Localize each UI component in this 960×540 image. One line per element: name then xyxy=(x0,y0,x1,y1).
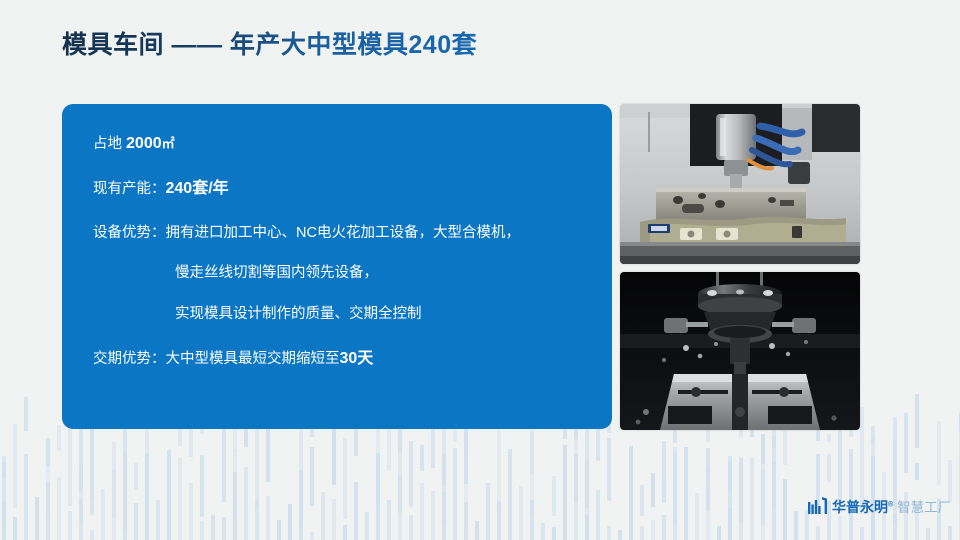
pattern-bar xyxy=(519,486,523,540)
pattern-bar xyxy=(728,456,732,520)
page-title: 模具车间 —— 年产大中型模具240套 xyxy=(62,26,477,60)
pattern-bar xyxy=(574,454,578,540)
pattern-bar xyxy=(123,421,127,530)
pattern-bar xyxy=(662,441,666,503)
pattern-bar xyxy=(761,434,765,464)
pattern-bar xyxy=(739,457,743,540)
pattern-bar xyxy=(750,457,754,540)
pattern-bar xyxy=(464,461,468,529)
pattern-bar xyxy=(57,425,61,451)
pattern-bar xyxy=(783,479,787,540)
pattern-bar xyxy=(552,476,556,516)
pattern-bar xyxy=(343,525,347,540)
info-line-area-segment: 2000 xyxy=(126,135,162,152)
pattern-bar xyxy=(629,446,633,540)
pattern-bar xyxy=(409,515,413,540)
pattern-bar xyxy=(200,455,204,517)
pattern-bar xyxy=(739,459,743,523)
logo-mark-icon xyxy=(808,497,828,514)
info-card: 占地 2000㎡现有产能：240套/年设备优势：拥有进口加工中心、NC电火花加工… xyxy=(62,104,612,429)
pattern-bar xyxy=(948,460,952,502)
pattern-bar xyxy=(464,502,468,540)
pattern-bar xyxy=(904,413,908,473)
pattern-bar xyxy=(343,438,347,519)
pattern-bar xyxy=(145,421,149,520)
pattern-bar xyxy=(673,447,677,540)
pattern-bar xyxy=(673,453,677,525)
pattern-bar xyxy=(68,511,72,540)
pattern-bar xyxy=(926,528,930,540)
pattern-bar xyxy=(827,454,831,482)
pattern-bar xyxy=(167,450,171,540)
pattern-bar xyxy=(508,449,512,540)
pattern-bar xyxy=(607,438,611,501)
info-line-area: 占地 2000㎡ xyxy=(93,134,594,153)
logo-brand-name: 华普永明 xyxy=(832,499,888,515)
pattern-bar xyxy=(156,500,160,540)
pattern-bar xyxy=(585,461,589,528)
logo-registered-mark: ® xyxy=(888,501,893,508)
pattern-bar xyxy=(24,454,28,540)
pattern-bar xyxy=(607,526,611,540)
pattern-bar xyxy=(13,424,17,508)
pattern-bar xyxy=(717,526,721,540)
pattern-bar xyxy=(596,490,600,540)
pattern-bar xyxy=(332,420,336,485)
pattern-bar xyxy=(233,472,237,540)
pattern-bar xyxy=(211,515,215,540)
pattern-bar xyxy=(662,481,666,497)
logo-brand-text: 华普永明® xyxy=(832,500,893,514)
pattern-bar xyxy=(486,483,490,540)
pattern-bar xyxy=(618,530,622,540)
info-line-equipment-advantage-2-segment: 慢走丝线切割等国内领先设备， xyxy=(175,265,378,281)
pattern-bar xyxy=(266,496,270,540)
info-line-capacity-segment: 240套/年 xyxy=(166,180,229,197)
pattern-bar xyxy=(244,467,248,540)
info-line-gap xyxy=(93,283,594,306)
pattern-bar xyxy=(222,425,226,502)
photo-cnc-milling-coolant-image xyxy=(620,104,860,264)
pattern-bar xyxy=(222,517,226,540)
info-line-lead-time-advantage-segment: 30天 xyxy=(340,350,374,367)
pattern-bar xyxy=(585,515,589,540)
pattern-bar xyxy=(420,483,424,540)
pattern-bar xyxy=(530,422,534,514)
info-line-gap xyxy=(93,153,594,179)
pattern-bar xyxy=(541,523,545,540)
pattern-bar xyxy=(398,475,402,540)
pattern-bar xyxy=(387,500,391,540)
info-line-lead-time-advantage: 交期优势：大中型模具最短交期缩短至30天 xyxy=(93,349,594,368)
slide: 模具车间 —— 年产大中型模具240套 占地 2000㎡现有产能：240套/年设… xyxy=(0,0,960,540)
pattern-bar xyxy=(915,463,919,480)
pattern-bar xyxy=(728,462,732,492)
pattern-bar xyxy=(134,503,138,540)
info-line-capacity: 现有产能：240套/年 xyxy=(93,179,594,198)
pattern-bar xyxy=(2,456,6,527)
pattern-bar xyxy=(585,426,589,508)
info-line-gap xyxy=(93,242,594,265)
pattern-bar xyxy=(860,527,864,540)
pattern-bar xyxy=(706,448,710,510)
pattern-bar xyxy=(200,521,204,540)
info-line-capacity-segment: 现有产能： xyxy=(93,181,166,197)
pattern-bar xyxy=(530,500,534,540)
photo-cnc-milling-coolant xyxy=(620,104,860,264)
pattern-bar xyxy=(552,527,556,540)
pattern-bar xyxy=(35,497,39,540)
pattern-bar xyxy=(761,469,765,540)
pattern-bar xyxy=(772,436,776,507)
pattern-bar xyxy=(332,499,336,540)
pattern-bar xyxy=(277,520,281,540)
pattern-bar xyxy=(662,515,666,540)
pattern-bar xyxy=(772,461,776,540)
pattern-bar xyxy=(915,394,919,448)
pattern-bar xyxy=(706,488,710,540)
pattern-bar xyxy=(178,458,182,540)
pattern-bar xyxy=(112,442,116,518)
pattern-bar xyxy=(79,465,83,525)
pattern-bar xyxy=(453,448,457,540)
pattern-bar xyxy=(255,423,259,506)
pattern-bar xyxy=(849,449,853,540)
pattern-bar xyxy=(365,512,369,540)
pattern-bar xyxy=(310,532,314,540)
pattern-bar xyxy=(816,526,820,540)
info-line-equipment-advantage-2: 慢走丝线切割等国内领先设备， xyxy=(93,265,594,282)
pattern-bar xyxy=(761,442,765,525)
pattern-bar xyxy=(112,469,116,540)
pattern-bar xyxy=(794,511,798,540)
pattern-bar xyxy=(90,530,94,540)
pattern-bar xyxy=(640,526,644,540)
pattern-bar xyxy=(101,489,105,540)
brand-logo: 华普永明® 智慧工厂 xyxy=(808,497,951,514)
pattern-bar xyxy=(376,453,380,540)
pattern-bar xyxy=(288,504,292,540)
pattern-bar xyxy=(860,407,864,508)
info-line-equipment-advantage: 设备优势：拥有进口加工中心、NC电火花加工设备，大型合模机， xyxy=(93,225,594,242)
photo-cnc-spindle-dark-image xyxy=(620,272,860,430)
pattern-bar xyxy=(651,520,655,540)
pattern-bar xyxy=(442,422,446,486)
info-line-area-segment: 占地 xyxy=(93,136,126,152)
pattern-bar xyxy=(420,445,424,471)
pattern-bar xyxy=(299,470,303,540)
pattern-bar xyxy=(827,434,831,442)
pattern-bar xyxy=(948,526,952,540)
pattern-bar xyxy=(233,450,237,519)
pattern-bar xyxy=(134,463,138,490)
pattern-bar xyxy=(46,438,50,467)
pattern-bar xyxy=(695,493,699,540)
info-line-lead-time-advantage-segment: 交期优势：大中型模具最短交期缩短至 xyxy=(93,351,340,367)
logo-tagline: 智慧工厂 xyxy=(897,501,951,515)
pattern-bar xyxy=(563,445,567,540)
pattern-bar xyxy=(530,432,534,475)
pattern-bar xyxy=(46,438,50,518)
pattern-bar xyxy=(57,477,61,540)
page-title-text: 模具车间 —— 年产大中型模具240套 xyxy=(62,25,477,61)
pattern-bar xyxy=(398,425,402,513)
pattern-bar xyxy=(189,483,193,540)
pattern-bar xyxy=(145,453,149,540)
pattern-bar xyxy=(13,517,17,540)
pattern-bar xyxy=(442,492,446,540)
pattern-bar xyxy=(310,447,314,506)
pattern-bar xyxy=(475,521,479,540)
info-card-content: 占地 2000㎡现有产能：240套/年设备优势：拥有进口加工中心、NC电火花加工… xyxy=(93,134,594,368)
pattern-bar xyxy=(24,397,28,431)
pattern-bar xyxy=(123,452,127,540)
pattern-bar xyxy=(46,482,50,540)
pattern-bar xyxy=(68,428,72,506)
pattern-bar xyxy=(255,500,259,540)
info-line-area-segment: ㎡ xyxy=(162,136,175,151)
pattern-bar xyxy=(728,508,732,540)
pattern-bar xyxy=(79,498,83,540)
pattern-bar xyxy=(684,447,688,540)
pattern-bar xyxy=(651,473,655,507)
pattern-bar xyxy=(90,423,94,515)
pattern-bar xyxy=(354,482,358,540)
pattern-bar xyxy=(871,426,875,444)
info-line-gap xyxy=(93,323,594,349)
pattern-bar xyxy=(431,491,435,540)
pattern-bar xyxy=(937,421,941,485)
info-line-equipment-advantage-3: 实现模具设计制作的质量、交期全控制 xyxy=(93,306,594,323)
pattern-bar xyxy=(640,485,644,516)
info-line-equipment-advantage-segment: 设备优势：拥有进口加工中心、NC电火花加工设备，大型合模机， xyxy=(93,225,520,241)
pattern-bar xyxy=(321,492,325,540)
pattern-bar xyxy=(299,421,303,527)
pattern-bar xyxy=(838,516,842,540)
pattern-bar xyxy=(805,510,809,540)
pattern-bar xyxy=(2,502,6,540)
pattern-bar xyxy=(497,501,501,540)
info-line-gap xyxy=(93,199,594,225)
info-line-equipment-advantage-3-segment: 实现模具设计制作的质量、交期全控制 xyxy=(175,306,422,322)
pattern-bar xyxy=(497,430,501,515)
pattern-bar xyxy=(893,514,897,540)
pattern-bar xyxy=(2,463,6,478)
pattern-bar xyxy=(442,453,446,526)
photo-cnc-spindle-dark xyxy=(620,272,860,430)
pattern-bar xyxy=(706,465,710,480)
pattern-bar xyxy=(409,441,413,507)
